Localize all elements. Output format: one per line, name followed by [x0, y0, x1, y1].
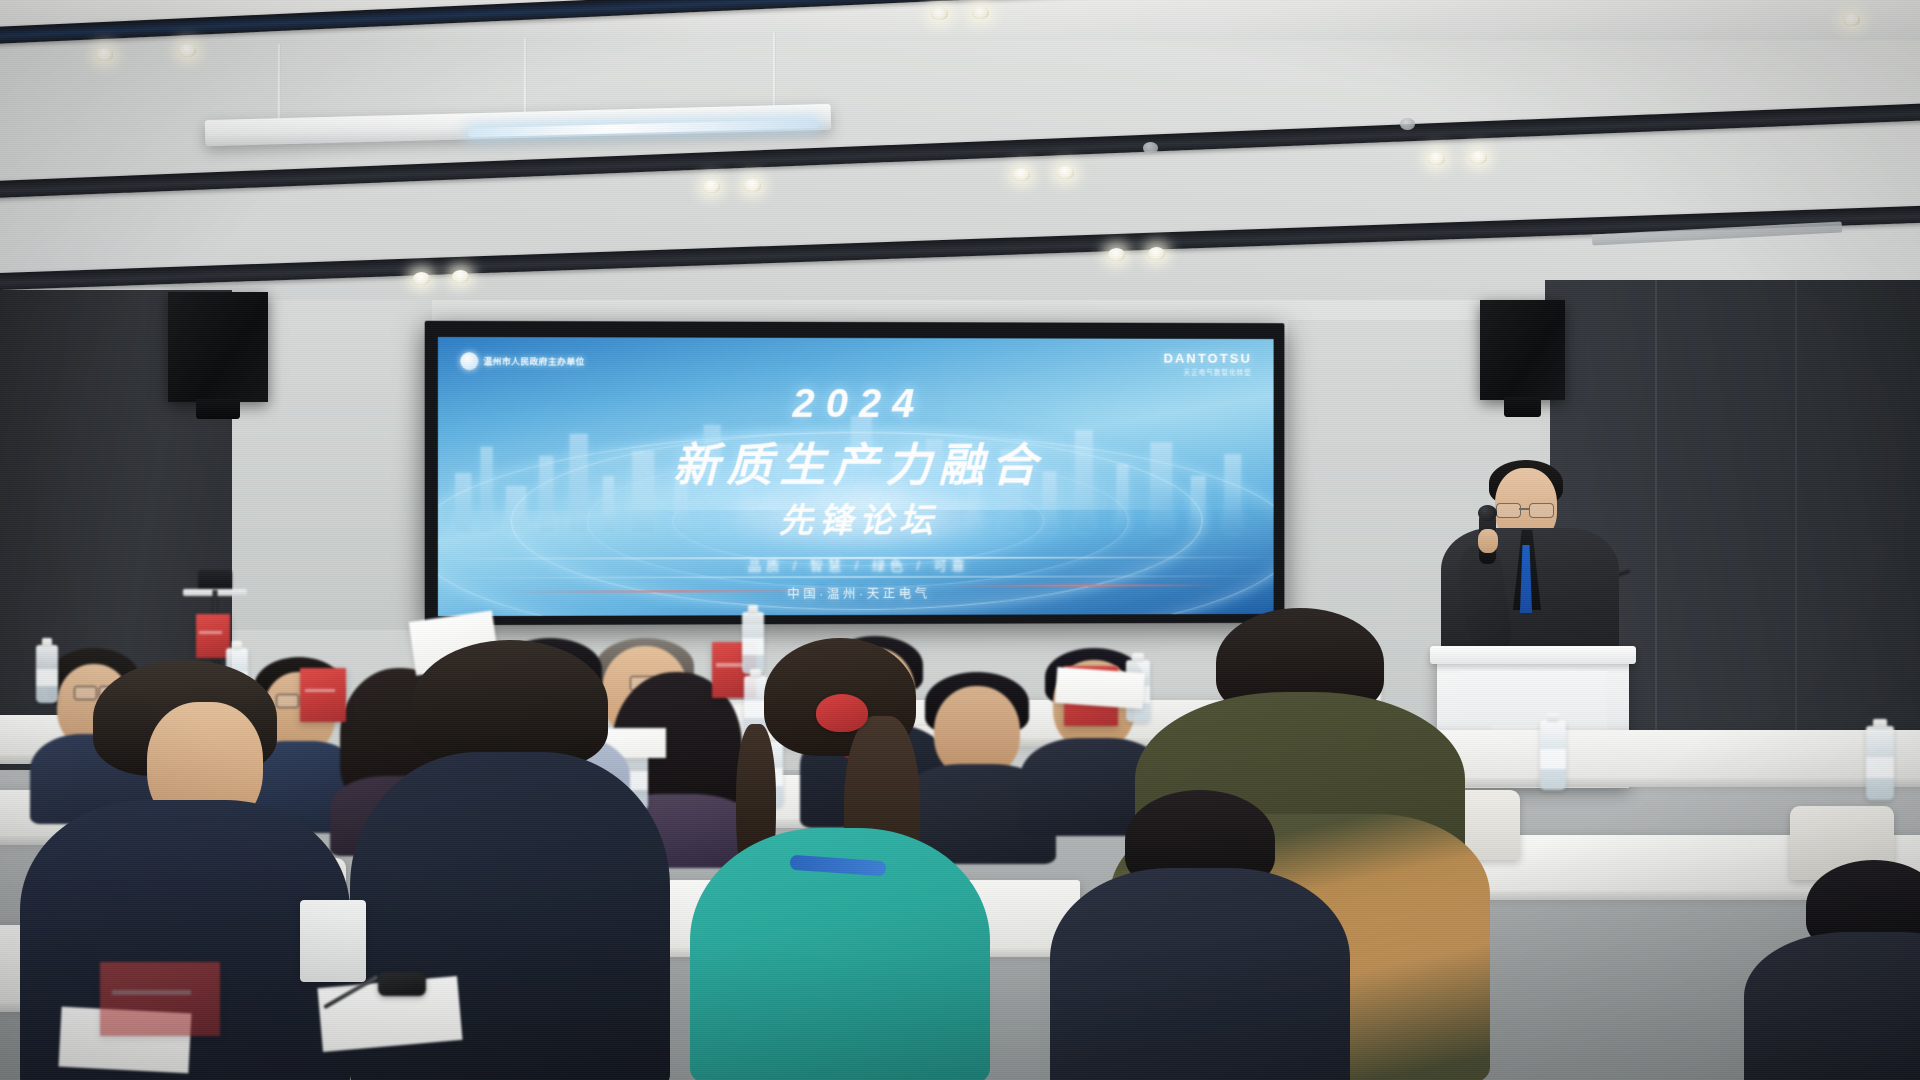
- ceiling-spotlight: [972, 6, 989, 19]
- red-gift-box: [100, 962, 220, 1036]
- ceiling-spotlight: [1428, 152, 1445, 165]
- conference-hall-photo: 温州市人民政府主办单位 DANTOTSU 天正电气数智化转型 2024 新质生产…: [0, 0, 1920, 1080]
- ceiling-spotlight: [703, 180, 720, 193]
- wall-speaker-left: [168, 292, 268, 402]
- ceiling-spotlight: [413, 272, 430, 285]
- slide-year: 2024: [438, 382, 1274, 428]
- ceiling-spotlight: [1843, 13, 1860, 26]
- slide-location: 中国·温州·天正电气: [438, 582, 1274, 603]
- torso: [1744, 932, 1920, 1080]
- speaker-mount: [1504, 397, 1541, 417]
- pendant-light-tube: [468, 119, 819, 137]
- wall-speaker-right: [1480, 300, 1565, 400]
- slide-text-block: 2024 新质生产力融合 先锋论坛 品质 / 智慧 / 绿色 / 可靠 中国·温…: [438, 337, 1274, 616]
- ceiling-spotlight: [1013, 168, 1030, 181]
- water-bottle: [1866, 726, 1894, 800]
- ceiling-spotlight: [96, 48, 113, 61]
- hair-bow: [816, 694, 868, 732]
- ceiling-light-strip-3: [0, 205, 1920, 291]
- ceiling-light-strip-2: [0, 102, 1920, 199]
- ceiling-spotlight: [179, 44, 196, 57]
- remote-gadget: [378, 972, 426, 996]
- water-bottle: [1540, 720, 1566, 790]
- speaker-mount: [196, 399, 240, 419]
- ceiling-spotlight: [1057, 166, 1074, 179]
- led-screen-surface: 温州市人民政府主办单位 DANTOTSU 天正电气数智化转型 2024 新质生产…: [438, 337, 1274, 616]
- slide-subheadline: 先锋论坛: [438, 493, 1274, 543]
- red-gift-box: [196, 614, 230, 658]
- tissue-box: [300, 900, 366, 982]
- smoke-detector-icon: [1143, 142, 1158, 154]
- slide-headline: 新质生产力融合: [438, 429, 1274, 496]
- hair: [412, 640, 608, 768]
- presenter-glasses-icon: [1496, 503, 1554, 516]
- led-screen: 温州市人民政府主办单位 DANTOTSU 天正电气数智化转型 2024 新质生产…: [425, 321, 1285, 625]
- smoke-detector-icon: [1400, 118, 1415, 130]
- ceiling-spotlight: [931, 7, 948, 20]
- ceiling-spotlight: [452, 270, 469, 283]
- ceiling-spotlight: [1470, 151, 1487, 164]
- pendant-light-fixture: [205, 104, 831, 146]
- ceiling-spotlight: [1108, 248, 1125, 261]
- audience-member: [1744, 860, 1920, 1080]
- presenter-hand: [1478, 529, 1498, 553]
- torso: [1050, 868, 1350, 1080]
- slide-tagline: 品质 / 智慧 / 绿色 / 可靠: [438, 555, 1274, 575]
- audience-member: [1050, 790, 1350, 1080]
- ceiling-spotlight: [744, 179, 761, 192]
- ceiling-spotlight: [1148, 247, 1165, 260]
